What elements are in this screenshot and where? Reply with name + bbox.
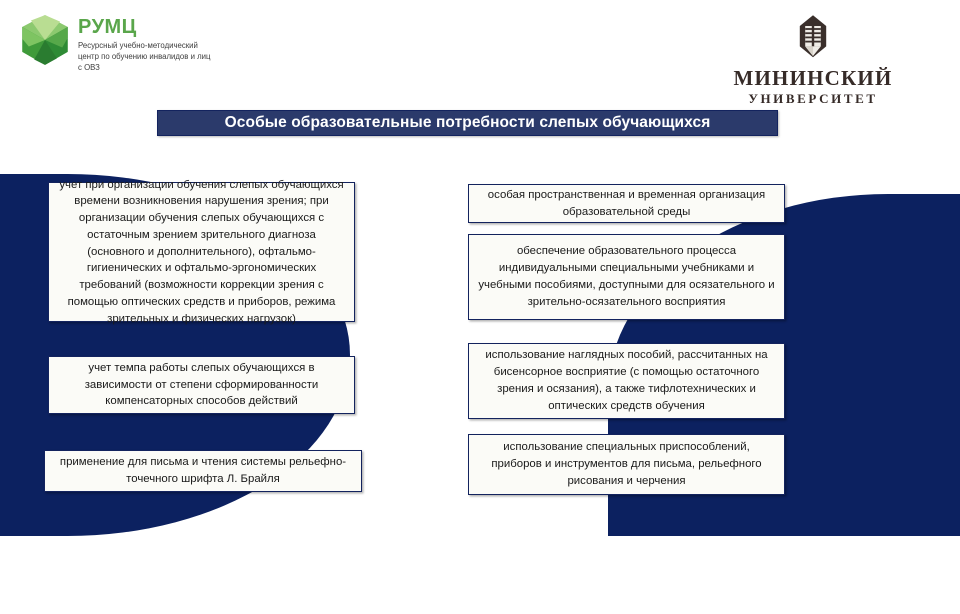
university-book-emblem-icon xyxy=(795,14,831,62)
content-box-right-3-text: использование наглядных пособий, рассчит… xyxy=(478,347,775,414)
page-title: Особые образовательные потребности слепы… xyxy=(225,114,711,132)
rumc-abbr: РУМЦ xyxy=(78,17,213,37)
content-box-left-3: применение для письма и чтения системы р… xyxy=(44,450,362,492)
content-box-right-1: особая пространственная и временная орга… xyxy=(468,184,785,223)
mininsky-university-logo: МИНИНСКИЙ УНИВЕРСИТЕТ xyxy=(718,14,908,105)
university-name: МИНИНСКИЙ xyxy=(718,68,908,89)
slide-title-banner: Особые образовательные потребности слепы… xyxy=(157,110,778,136)
content-box-left-1-text: учет при организации обучения слепых обу… xyxy=(58,177,345,328)
content-box-right-4: использование специальных приспособлений… xyxy=(468,434,785,495)
content-box-right-3: использование наглядных пособий, рассчит… xyxy=(468,343,785,419)
content-box-right-2: обеспечение образовательного процесса ин… xyxy=(468,234,785,320)
slide-canvas: РУМЦ Ресурсный учебно-методический центр… xyxy=(0,0,960,614)
content-box-left-3-text: применение для письма и чтения системы р… xyxy=(54,454,352,488)
university-subname: УНИВЕРСИТЕТ xyxy=(718,92,908,105)
navy-blob-right-extension xyxy=(900,194,960,536)
rumc-subtitle: Ресурсный учебно-методический центр по о… xyxy=(78,40,213,73)
content-box-left-2: учет темпа работы слепых обучающихся в з… xyxy=(48,356,355,414)
content-box-left-1: учет при организации обучения слепых обу… xyxy=(48,182,355,322)
rumc-logo-text: РУМЦ Ресурсный учебно-методический центр… xyxy=(78,12,213,73)
content-box-right-4-text: использование специальных приспособлений… xyxy=(478,439,775,489)
green-gem-cube-logo-icon xyxy=(18,13,72,67)
rumc-logo: РУМЦ Ресурсный учебно-методический центр… xyxy=(18,12,213,73)
content-box-right-1-text: особая пространственная и временная орга… xyxy=(478,187,775,221)
content-box-left-2-text: учет темпа работы слепых обучающихся в з… xyxy=(58,360,345,410)
content-box-right-2-text: обеспечение образовательного процесса ин… xyxy=(478,243,775,310)
